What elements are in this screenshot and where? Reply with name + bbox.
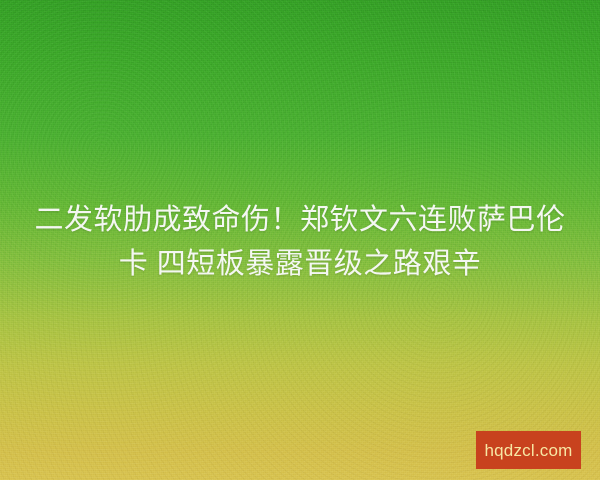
headline-text: 二发软肋成致命伤！郑钦文六连败萨巴伦卡 四短板暴露晋级之路艰辛 [0,198,600,286]
watermark-label: hqdzcl.com [485,442,573,459]
watermark-badge: hqdzcl.com [476,431,581,469]
image-canvas: 二发软肋成致命伤！郑钦文六连败萨巴伦卡 四短板暴露晋级之路艰辛 hqdzcl.c… [0,0,600,480]
